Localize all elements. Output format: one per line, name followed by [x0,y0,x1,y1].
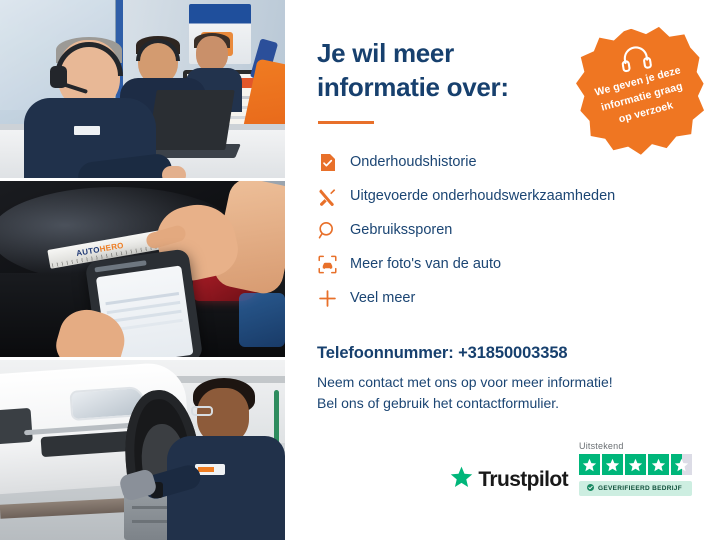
content-panel: Je wil meer informatie over: We geven je… [285,0,720,540]
phone-number[interactable]: Telefoonnummer: +31850003358 [317,344,690,363]
verified-check-icon [587,484,594,493]
trustpilot-wordmark: Trustpilot [478,468,568,492]
car-scan-icon [317,254,337,274]
feature-item-veel-meer: Veel meer [317,286,690,311]
magnifier-icon [317,220,337,240]
service-badge: We geven je deze informatie graag op ver… [569,19,713,163]
star-half-5 [671,454,692,475]
agent-foreground [22,40,148,178]
contact-block: Telefoonnummer: +31850003358 Neem contac… [317,344,690,415]
safety-glasses [191,406,213,416]
trustpilot-star-icon [450,466,473,493]
feature-label: Gebruikssporen [350,223,452,238]
mechanic-wheel-photo [0,360,285,540]
contact-line-2: Bel ons of gebruik het contactformulier. [317,393,690,415]
mechanic [169,378,279,540]
feature-label: Uitgevoerde onderhoudswerkzaamheden [350,189,615,204]
plus-icon [317,288,337,308]
feature-label: Meer foto's van de auto [350,257,501,272]
verified-label: GEVERIFIEERD BEDRIJF [598,485,682,492]
star-filled-1 [579,454,600,475]
contact-line-1: Neem contact met ons op voor meer inform… [317,372,690,394]
page-title: Je wil meer informatie over: [317,36,567,105]
feature-item-gebruikssporen: Gebruikssporen [317,218,690,243]
trustpilot-widget[interactable]: Trustpilot Uitstekend [450,441,692,496]
star-filled-4 [648,454,669,475]
front-grille [0,408,33,446]
head [196,36,228,72]
feature-item-werkzaamheden: Uitgevoerde onderhoudswerkzaamheden [317,184,690,209]
trustpilot-rating: Uitstekend [579,441,692,496]
rating-label: Uitstekend [579,441,624,451]
laptop-screen [147,90,235,150]
autohero-ruler-logo: AUTOHERO [76,241,125,258]
feature-list: Onderhoudshistorie Uitgevoerde onderhoud… [317,150,690,311]
verified-business-badge: GEVERIFIEERD BEDRIJF [579,481,692,496]
feature-item-fotos: Meer foto's van de auto [317,252,690,277]
photo-strip: AUTOHERO [0,0,285,540]
car-inspection-ruler-photo: AUTOHERO [0,181,285,357]
trustpilot-logo: Trustpilot [450,466,568,496]
star-rating [579,454,692,475]
wrench-screwdriver-icon [317,186,337,206]
star-filled-3 [625,454,646,475]
title-divider [318,121,374,124]
hand [162,166,186,178]
feature-label: Onderhoudshistorie [350,155,477,170]
feature-label: Veel meer [350,291,415,306]
blue-reflection [239,293,285,347]
contact-text: Neem contact met ons op voor meer inform… [317,372,690,415]
promo-card: AUTOHERO [0,0,720,540]
callcenter-agents-photo [0,0,285,178]
document-check-icon [317,152,337,172]
name-badge [74,126,100,135]
star-filled-2 [602,454,623,475]
